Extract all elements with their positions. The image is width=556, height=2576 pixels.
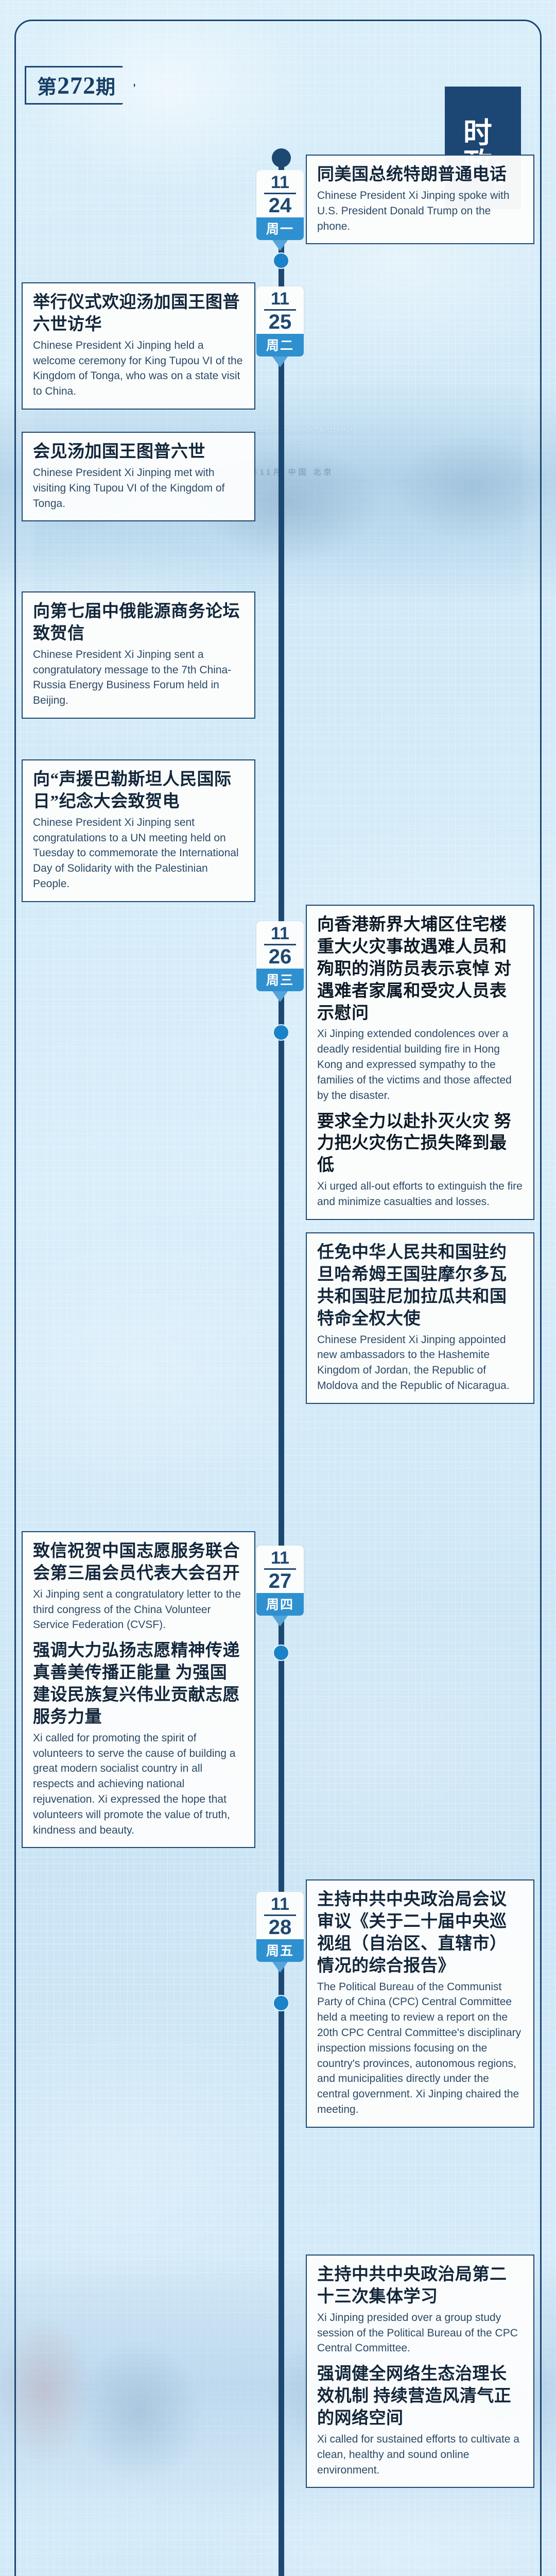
date-day: 28 xyxy=(256,1917,304,1938)
card-body-en: The Political Bureau of the Communist Pa… xyxy=(317,1979,523,2117)
card-body-en: Xi Jinping presided over a group study s… xyxy=(317,2310,523,2356)
date-weekday: 周四 xyxy=(256,1593,304,1616)
event-card-trump-call[interactable]: 同美国总统特朗普通电话 Chinese President Xi Jinping… xyxy=(306,155,534,244)
date-box: 11 24 xyxy=(256,170,304,217)
date-day: 27 xyxy=(256,1571,304,1591)
card-title-zh: 同美国总统特朗普通电话 xyxy=(317,164,523,186)
issue-suffix: 期 xyxy=(96,77,116,98)
date-box: 11 25 xyxy=(256,286,304,334)
card-body-en: Xi Jinping sent a congratulatory letter … xyxy=(33,1587,244,1633)
date-marker-11-25[interactable]: 11 25 周二 xyxy=(256,286,304,367)
card-body-en: Chinese President Xi Jinping held a welc… xyxy=(33,338,244,399)
card-body-en: Chinese President Xi Jinping sent a cong… xyxy=(33,647,244,708)
event-card-politburo-meeting[interactable]: 主持中共中央政治局会议 审议《关于二十届中央巡视组（自治区、直辖市）情况的综合报… xyxy=(306,1879,534,2128)
issue-label: 第 xyxy=(37,77,57,98)
card-title-zh: 举行仪式欢迎汤加国王图普六世访华 xyxy=(33,292,244,336)
date-day: 26 xyxy=(256,946,304,967)
timeline-spine xyxy=(279,155,284,2576)
event-card-group-study[interactable]: 主持中共中央政治局第二十三次集体学习 Xi Jinping presided o… xyxy=(306,2255,534,2488)
timeline-node-11-27 xyxy=(273,1645,289,1661)
date-pointer-tail xyxy=(272,357,288,367)
card-title2-zh: 强调大力弘扬志愿精神传递真善美传播正能量 为强国建设民族复兴伟业贡献志愿服务力量 xyxy=(33,1640,244,1728)
date-marker-11-26[interactable]: 11 26 周三 xyxy=(256,921,304,1002)
card-body-en: Chinese President Xi Jinping spoke with … xyxy=(317,188,523,234)
issue-number-badge: 第272期 xyxy=(25,66,135,105)
card-title-zh: 致信祝贺中国志愿服务联合会第三届会员代表大会召开 xyxy=(33,1540,244,1585)
card-title-zh: 向香港新界大埔区住宅楼重大火灾事故遇难人员和殉职的消防员表示哀悼 对遇难者家属和… xyxy=(317,914,523,1024)
date-day: 25 xyxy=(256,312,304,332)
date-pointer-tail xyxy=(272,991,288,1002)
issue-number: 272 xyxy=(57,72,96,99)
card-body-en: Chinese President Xi Jinping appointed n… xyxy=(317,1332,523,1394)
photo-band-study xyxy=(0,2566,556,2576)
date-pointer-tail xyxy=(272,1962,288,1973)
card-title-zh: 会见汤加国王图普六世 xyxy=(33,441,244,463)
card-body2-en: Xi called for promoting the spirit of vo… xyxy=(33,1731,244,1838)
date-marker-11-24[interactable]: 11 24 周一 xyxy=(256,170,304,251)
timeline-node-11-26 xyxy=(273,1024,289,1041)
date-month: 11 xyxy=(256,1895,304,1913)
card-title2-zh: 强调健全网络生态治理长效机制 持续营造风清气正的网络空间 xyxy=(317,2363,523,2430)
date-box: 11 28 xyxy=(256,1892,304,1939)
card-title2-zh: 要求全力以赴扑灭火灾 努力把火灾伤亡损失降到最低 xyxy=(317,1111,523,1177)
card-body-en: Chinese President Xi Jinping sent congra… xyxy=(33,815,244,892)
date-day: 24 xyxy=(256,195,304,216)
event-card-volunteer-federation[interactable]: 致信祝贺中国志愿服务联合会第三届会员代表大会召开 Xi Jinping sent… xyxy=(22,1531,255,1848)
date-month: 11 xyxy=(256,925,304,942)
date-box: 11 26 xyxy=(256,921,304,969)
event-card-tonga-meeting[interactable]: 会见汤加国王图普六世 Chinese President Xi Jinping … xyxy=(22,432,255,521)
card-title-zh: 向第七届中俄能源商务论坛致贺信 xyxy=(33,601,244,645)
event-card-palestine-solidarity[interactable]: 向“声援巴勒斯坦人民国际日”纪念大会致贺电 Chinese President … xyxy=(22,759,255,902)
date-weekday: 周五 xyxy=(256,1939,304,1962)
date-month: 11 xyxy=(256,174,304,191)
event-card-energy-forum[interactable]: 向第七届中俄能源商务论坛致贺信 Chinese President Xi Jin… xyxy=(22,591,255,719)
timeline-node-11-25 xyxy=(273,252,289,269)
event-card-ambassador-appointments[interactable]: 任免中华人民共和国驻约旦哈希姆王国驻摩尔多瓦共和国驻尼加拉瓜共和国特命全权大使 … xyxy=(306,1232,534,1404)
date-month: 11 xyxy=(256,1549,304,1567)
issue-number-text: 第272期 xyxy=(37,71,123,100)
event-card-tonga-welcome[interactable]: 举行仪式欢迎汤加国王图普六世访华 Chinese President Xi Ji… xyxy=(22,282,255,410)
date-weekday: 周一 xyxy=(256,217,304,240)
date-weekday: 周二 xyxy=(256,334,304,357)
date-month: 11 xyxy=(256,290,304,308)
card-body2-en: Xi urged all-out efforts to extinguish t… xyxy=(317,1179,523,1210)
date-marker-11-27[interactable]: 11 27 周四 xyxy=(256,1546,304,1626)
event-card-hongkong-fire[interactable]: 向香港新界大埔区住宅楼重大火灾事故遇难人员和殉职的消防员表示哀悼 对遇难者家属和… xyxy=(306,905,534,1220)
card-title-zh: 任免中华人民共和国驻约旦哈希姆王国驻摩尔多瓦共和国驻尼加拉瓜共和国特命全权大使 xyxy=(317,1242,523,1330)
card-title-zh: 主持中共中央政治局会议 审议《关于二十届中央巡视组（自治区、直辖市）情况的综合报… xyxy=(317,1889,523,1977)
date-marker-11-28[interactable]: 11 28 周五 xyxy=(256,1892,304,1973)
date-pointer-tail xyxy=(272,240,288,251)
card-body-en: Xi Jinping extended condolences over a d… xyxy=(317,1026,523,1103)
card-title-zh: 向“声援巴勒斯坦人民国际日”纪念大会致贺电 xyxy=(33,769,244,813)
card-body-en: Chinese President Xi Jinping met with vi… xyxy=(33,465,244,511)
card-body2-en: Xi called for sustained efforts to culti… xyxy=(317,2432,523,2478)
date-weekday: 周三 xyxy=(256,969,304,991)
date-pointer-tail xyxy=(272,1616,288,1626)
timeline-node-11-28 xyxy=(273,1995,289,2011)
timeline-start-cap xyxy=(272,148,291,167)
date-box: 11 27 xyxy=(256,1546,304,1593)
card-title-zh: 主持中共中央政治局第二十三次集体学习 xyxy=(317,2264,523,2308)
